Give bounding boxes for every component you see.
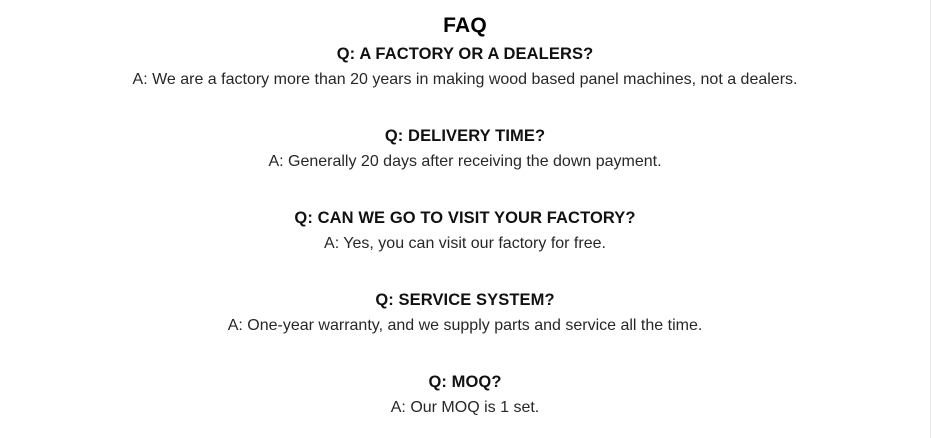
- faq-question-1: Q: A FACTORY OR A DEALERS?: [0, 41, 930, 67]
- faq-answer-5: A: Our MOQ is 1 set.: [0, 395, 930, 421]
- faq-question-4: Q: SERVICE SYSTEM?: [0, 287, 930, 313]
- faq-item-3: Q: CAN WE GO TO VISIT YOUR FACTORY? A: Y…: [0, 205, 930, 257]
- faq-answer-2: A: Generally 20 days after receiving the…: [0, 149, 930, 175]
- faq-question-5: Q: MOQ?: [0, 369, 930, 395]
- page-title: FAQ: [0, 13, 930, 39]
- faq-item-2: Q: DELIVERY TIME? A: Generally 20 days a…: [0, 123, 930, 175]
- faq-page: FAQ Q: A FACTORY OR A DEALERS? A: We are…: [0, 0, 931, 438]
- faq-answer-1: A: We are a factory more than 20 years i…: [0, 67, 930, 93]
- faq-item-4: Q: SERVICE SYSTEM? A: One-year warranty,…: [0, 287, 930, 339]
- faq-question-2: Q: DELIVERY TIME?: [0, 123, 930, 149]
- faq-item-1: Q: A FACTORY OR A DEALERS? A: We are a f…: [0, 41, 930, 93]
- faq-answer-4: A: One-year warranty, and we supply part…: [0, 313, 930, 339]
- faq-content: FAQ Q: A FACTORY OR A DEALERS? A: We are…: [0, 0, 930, 421]
- faq-question-3: Q: CAN WE GO TO VISIT YOUR FACTORY?: [0, 205, 930, 231]
- faq-item-5: Q: MOQ? A: Our MOQ is 1 set.: [0, 369, 930, 421]
- faq-answer-3: A: Yes, you can visit our factory for fr…: [0, 231, 930, 257]
